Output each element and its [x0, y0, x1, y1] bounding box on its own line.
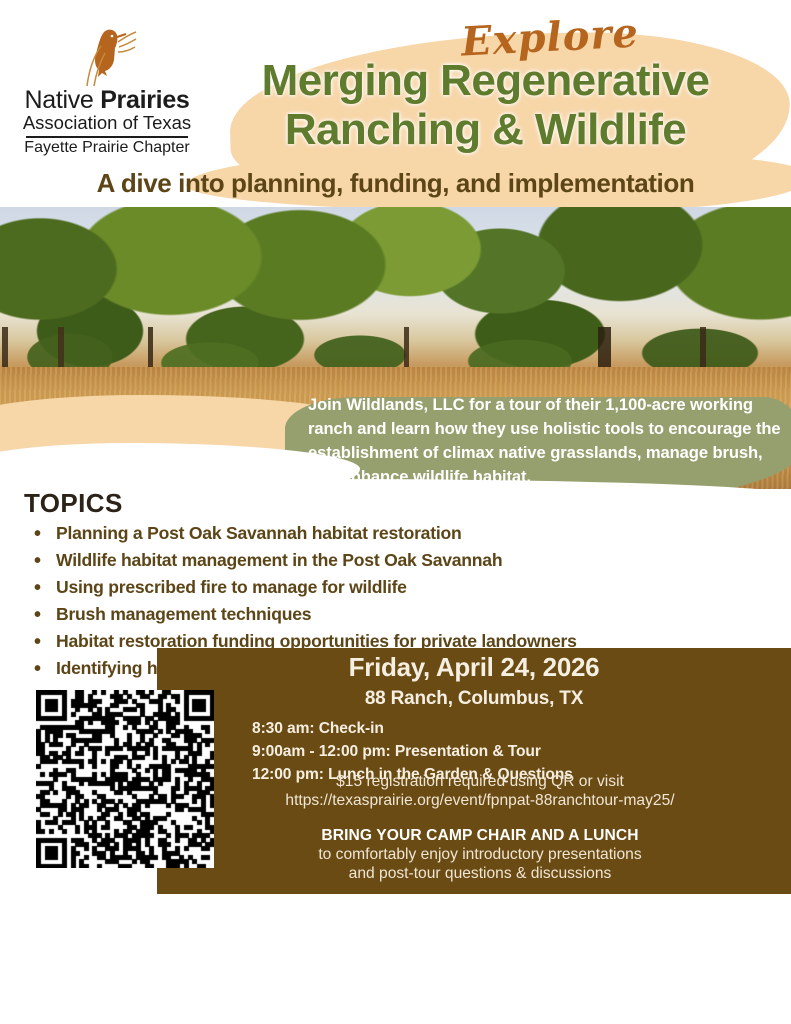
- npat-name-line-2: Association of Texas: [14, 114, 200, 133]
- title-line-2: Ranching & Wildlife: [180, 105, 791, 154]
- header-section: Native Prairies Association of Texas Fay…: [0, 0, 791, 207]
- npat-logo: Native Prairies Association of Texas Fay…: [14, 26, 200, 156]
- flyer-page: Native Prairies Association of Texas Fay…: [0, 0, 791, 1024]
- title-line-1: Merging Regenerative: [180, 56, 791, 105]
- topic-item: Wildlife habitat management in the Post …: [56, 547, 784, 574]
- schedule-line: 8:30 am: Check-in: [252, 718, 712, 741]
- bird-on-grass-icon: [74, 26, 140, 88]
- registration-url-link[interactable]: https://texasprairie.org/event/fpnpat-88…: [200, 790, 760, 812]
- npat-name-line-1: Native Prairies: [14, 88, 200, 113]
- npat-chapter: Fayette Prairie Chapter: [14, 140, 200, 156]
- bring-note-line-1: to comfortably enjoy introductory presen…: [200, 846, 760, 864]
- page-subtitle: A dive into planning, funding, and imple…: [0, 168, 791, 199]
- registration-qr-code[interactable]: [36, 690, 214, 868]
- sponsor-logos: Wildlands TEXAS PARKS & WILDLIFE: [0, 896, 791, 1024]
- bring-headline: BRING YOUR CAMP CHAIR AND A LUNCH: [200, 827, 760, 845]
- photo-overlay-text: Join Wildlands, LLC for a tour of their …: [308, 393, 786, 489]
- topic-item: Planning a Post Oak Savannah habitat res…: [56, 520, 784, 547]
- topic-item: Brush management techniques: [56, 601, 784, 628]
- schedule-line: 9:00am - 12:00 pm: Presentation & Tour: [252, 741, 712, 764]
- topics-heading: TOPICS: [24, 488, 123, 519]
- bring-note-line-2: and post-tour questions & discussions: [200, 865, 760, 883]
- event-location: 88 Ranch, Columbus, TX: [157, 688, 791, 710]
- page-title: Merging Regenerative Ranching & Wildlife: [180, 56, 791, 155]
- topic-item: Using prescribed fire to manage for wild…: [56, 574, 784, 601]
- event-date: Friday, April 24, 2026: [157, 652, 791, 683]
- npat-divider: [26, 136, 188, 138]
